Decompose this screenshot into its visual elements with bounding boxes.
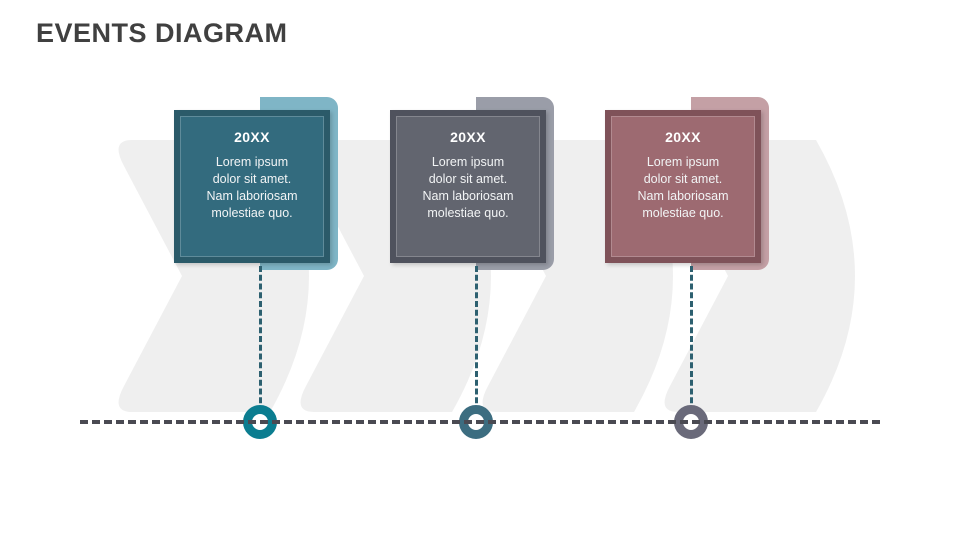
event-description: Lorem ipsum dolor sit amet. Nam laborios… <box>206 154 297 222</box>
event-description: Lorem ipsum dolor sit amet. Nam laborios… <box>422 154 513 222</box>
event-year: 20XX <box>234 129 270 145</box>
event-card[interactable]: 20XXLorem ipsum dolor sit amet. Nam labo… <box>174 110 330 263</box>
event-connector-line <box>475 266 478 412</box>
slide-canvas: EVENTS DIAGRAM 20XXLorem ipsum dolor sit… <box>0 0 960 540</box>
event-card-content: 20XXLorem ipsum dolor sit amet. Nam labo… <box>611 116 755 257</box>
event-card[interactable]: 20XXLorem ipsum dolor sit amet. Nam labo… <box>605 110 761 263</box>
event-group: 20XXLorem ipsum dolor sit amet. Nam labo… <box>605 0 865 540</box>
event-connector-line <box>690 266 693 412</box>
event-card-content: 20XXLorem ipsum dolor sit amet. Nam labo… <box>180 116 324 257</box>
timeline-axis <box>80 420 880 424</box>
event-year: 20XX <box>450 129 486 145</box>
event-year: 20XX <box>665 129 701 145</box>
event-description: Lorem ipsum dolor sit amet. Nam laborios… <box>637 154 728 222</box>
events-layer: 20XXLorem ipsum dolor sit amet. Nam labo… <box>0 0 960 540</box>
event-card-content: 20XXLorem ipsum dolor sit amet. Nam labo… <box>396 116 540 257</box>
event-connector-line <box>259 266 262 412</box>
event-card[interactable]: 20XXLorem ipsum dolor sit amet. Nam labo… <box>390 110 546 263</box>
